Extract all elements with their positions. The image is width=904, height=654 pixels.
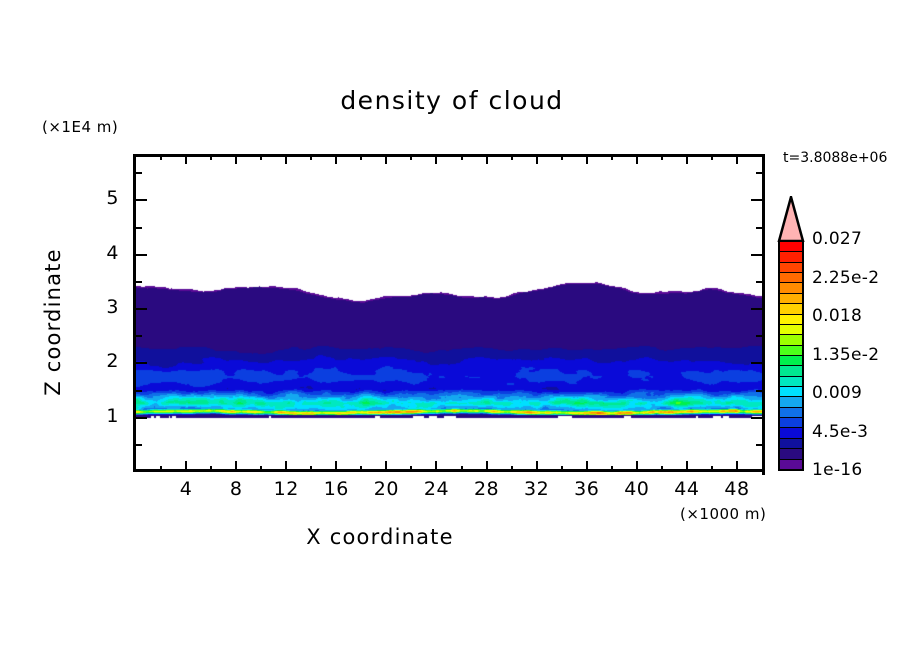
y-tick-minor bbox=[136, 172, 142, 174]
x-tick-top bbox=[385, 154, 387, 164]
colorbar-band bbox=[780, 304, 802, 314]
x-tick-top bbox=[486, 154, 488, 164]
colorbar-band bbox=[780, 325, 802, 335]
x-tick-top bbox=[536, 154, 538, 164]
x-tick-major bbox=[185, 461, 187, 472]
colorbar-band bbox=[780, 252, 802, 262]
x-tick-top-minor bbox=[210, 154, 212, 160]
x-tick-minor bbox=[310, 466, 312, 472]
colorbar-band bbox=[780, 439, 802, 449]
y-tick-right bbox=[751, 254, 762, 256]
x-tick-top bbox=[636, 154, 638, 164]
x-tick-top-minor bbox=[360, 154, 362, 160]
y-tick-right-minor bbox=[756, 444, 762, 446]
colorbar-band bbox=[780, 335, 802, 345]
x-tick-major bbox=[285, 461, 287, 472]
colorbar-tick-label: 0.018 bbox=[812, 306, 862, 326]
x-tick-top-minor bbox=[410, 154, 412, 160]
x-tick-minor bbox=[410, 466, 412, 472]
colorbar-band bbox=[780, 449, 802, 459]
colorbar-tick-label: 1.35e-2 bbox=[812, 345, 879, 365]
x-tick-minor bbox=[260, 466, 262, 472]
y-axis-unit-label: (×1E4 m) bbox=[42, 118, 118, 136]
colorbar-band bbox=[780, 460, 802, 469]
x-tick-minor bbox=[511, 466, 513, 472]
colorbar bbox=[777, 196, 807, 481]
x-tick-major bbox=[435, 461, 437, 472]
x-tick-top-minor bbox=[711, 154, 713, 160]
x-tick-top bbox=[185, 154, 187, 164]
y-tick-major bbox=[136, 417, 147, 419]
colorbar-band bbox=[780, 263, 802, 273]
x-tick-minor bbox=[711, 466, 713, 472]
x-tick-top-minor bbox=[310, 154, 312, 160]
x-tick-top bbox=[686, 154, 688, 164]
x-tick-major bbox=[686, 461, 688, 472]
colorbar-tick-label: 1e-16 bbox=[812, 460, 863, 480]
x-tick-major bbox=[586, 461, 588, 472]
x-tick-minor bbox=[461, 466, 463, 472]
colorbar-band bbox=[780, 387, 802, 397]
timestamp-annotation: t=3.8088e+06 bbox=[783, 150, 887, 166]
y-tick-minor bbox=[136, 444, 142, 446]
x-tick-minor bbox=[561, 466, 563, 472]
x-tick-minor bbox=[360, 466, 362, 472]
y-tick-major bbox=[136, 362, 147, 364]
x-tick-top bbox=[285, 154, 287, 164]
x-tick-top-minor bbox=[611, 154, 613, 160]
x-tick-major bbox=[385, 461, 387, 472]
y-tick-label: 4 bbox=[83, 242, 119, 264]
contour-heatmap bbox=[136, 157, 765, 472]
x-axis-title: X coordinate bbox=[0, 525, 760, 549]
y-tick-right bbox=[751, 362, 762, 364]
y-tick-label: 1 bbox=[83, 405, 119, 427]
y-tick-right-minor bbox=[756, 390, 762, 392]
colorbar-tick-label: 0.009 bbox=[812, 383, 862, 403]
x-tick-top-minor bbox=[561, 154, 563, 160]
x-tick-label: 48 bbox=[707, 478, 767, 500]
colorbar-band bbox=[780, 418, 802, 428]
x-tick-top bbox=[235, 154, 237, 164]
y-tick-right-minor bbox=[756, 335, 762, 337]
colorbar-tick-label: 0.027 bbox=[812, 229, 862, 249]
x-tick-minor bbox=[210, 466, 212, 472]
colorbar-band bbox=[780, 283, 802, 293]
x-tick-top-minor bbox=[511, 154, 513, 160]
y-tick-label: 3 bbox=[83, 296, 119, 318]
y-tick-minor bbox=[136, 390, 142, 392]
x-tick-major bbox=[736, 461, 738, 472]
y-tick-minor bbox=[136, 227, 142, 229]
x-tick-major bbox=[486, 461, 488, 472]
colorbar-band bbox=[780, 377, 802, 387]
colorbar-bands bbox=[778, 240, 804, 471]
colorbar-band bbox=[780, 294, 802, 304]
y-tick-minor bbox=[136, 281, 142, 283]
colorbar-band bbox=[780, 356, 802, 366]
colorbar-band bbox=[780, 273, 802, 283]
x-tick-major bbox=[335, 461, 337, 472]
y-axis-title: Z coordinate bbox=[41, 232, 65, 412]
x-tick-top bbox=[736, 154, 738, 164]
y-tick-major bbox=[136, 308, 147, 310]
colorbar-band bbox=[780, 366, 802, 376]
y-tick-label: 2 bbox=[83, 350, 119, 372]
colorbar-tick-label: 4.5e-3 bbox=[812, 422, 868, 442]
plot-frame-right-edge bbox=[762, 154, 765, 475]
plot-area bbox=[133, 154, 765, 472]
colorbar-band bbox=[780, 428, 802, 438]
y-tick-major bbox=[136, 254, 147, 256]
y-tick-label: 5 bbox=[83, 187, 119, 209]
page-title: density of cloud bbox=[0, 86, 904, 115]
colorbar-band bbox=[780, 315, 802, 325]
x-tick-top-minor bbox=[661, 154, 663, 160]
y-tick-right bbox=[751, 308, 762, 310]
x-tick-minor bbox=[661, 466, 663, 472]
x-tick-top bbox=[435, 154, 437, 164]
x-tick-top-minor bbox=[461, 154, 463, 160]
x-tick-top bbox=[586, 154, 588, 164]
y-tick-right-minor bbox=[756, 227, 762, 229]
colorbar-tick-label: 2.25e-2 bbox=[812, 268, 879, 288]
y-tick-major bbox=[136, 199, 147, 201]
colorbar-band bbox=[780, 346, 802, 356]
y-tick-minor bbox=[136, 335, 142, 337]
colorbar-band bbox=[780, 408, 802, 418]
x-tick-top bbox=[335, 154, 337, 164]
y-tick-right-minor bbox=[756, 281, 762, 283]
colorbar-overflow-arrow-icon bbox=[777, 196, 805, 242]
y-tick-right bbox=[751, 417, 762, 419]
y-tick-right bbox=[751, 199, 762, 201]
colorbar-band bbox=[780, 242, 802, 252]
y-tick-right-minor bbox=[756, 172, 762, 174]
x-tick-major bbox=[636, 461, 638, 472]
x-axis-unit-label: (×1000 m) bbox=[680, 505, 766, 523]
colorbar-band bbox=[780, 397, 802, 407]
x-tick-minor bbox=[160, 466, 162, 472]
x-tick-minor bbox=[611, 466, 613, 472]
x-tick-major bbox=[536, 461, 538, 472]
x-tick-top-minor bbox=[260, 154, 262, 160]
x-tick-major bbox=[235, 461, 237, 472]
x-tick-top-minor bbox=[160, 154, 162, 160]
